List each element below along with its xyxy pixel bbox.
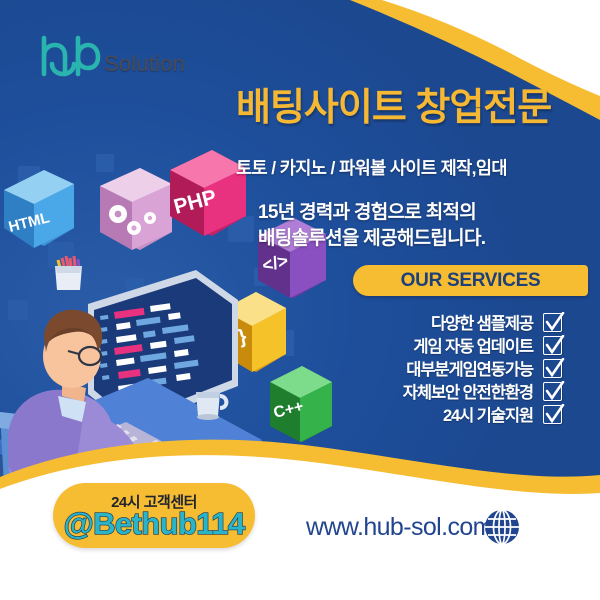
tech-cube-php: PHP (170, 150, 246, 236)
checkbox-checked-icon (543, 336, 562, 355)
checkbox-checked-icon (543, 405, 562, 424)
checkbox-checked-icon (543, 382, 562, 401)
chair-base-front (10, 410, 18, 466)
service-label: 대부분게임연동가능 (406, 356, 533, 380)
service-item: 게임 자동 업데이트 (350, 334, 562, 356)
checkbox-checked-icon (543, 359, 562, 378)
tagline-line-1: 15년 경력과 경험으로 최적의 (258, 200, 588, 226)
tech-cube-gears (100, 168, 172, 250)
page-headline: 배팅사이트 창업전문 (236, 88, 588, 129)
service-item: 다양한 샘플제공 (350, 311, 562, 333)
service-label: 24시 기술지원 (443, 402, 533, 426)
service-label: 게임 자동 업데이트 (413, 333, 533, 357)
service-label: 다양한 샘플제공 (431, 310, 533, 334)
poster-canvas: Solution HTML (0, 0, 600, 600)
messenger-handle[interactable]: @Bethub114 (53, 508, 255, 541)
checkbox-checked-icon (543, 313, 562, 332)
services-heading-label: OUR SERVICES (401, 270, 541, 292)
pencil-cup (55, 256, 82, 290)
service-label: 자체보안 안전한환경 (403, 379, 533, 403)
hub-logo-icon (38, 34, 102, 78)
services-list: 다양한 샘플제공 게임 자동 업데이트 대부분게임연동가능 자체보안 안전한환경… (350, 311, 562, 426)
page-subheadline: 토토 / 카지노 / 파워볼 사이트 제작,임대 (236, 155, 588, 180)
brand-logo: Solution (38, 34, 185, 78)
logo-wordmark: Solution (104, 51, 185, 77)
page-tagline: 15년 경력과 경험으로 최적의 배팅솔루션을 제공해드립니다. (258, 200, 588, 252)
tech-cube-html: HTML (4, 170, 74, 248)
service-item: 24시 기술지원 (350, 403, 562, 425)
service-item: 대부분게임연동가능 (350, 357, 562, 379)
tagline-line-2: 배팅솔루션을 제공해드립니다. (258, 226, 588, 252)
service-item: 자체보안 안전한환경 (350, 380, 562, 402)
globe-icon (482, 507, 522, 547)
customer-center-pill[interactable]: 24시 고객센터 @Bethub114 (53, 483, 255, 548)
website-url[interactable]: www.hub-sol.com (306, 513, 493, 542)
services-heading-pill: OUR SERVICES (353, 265, 588, 296)
